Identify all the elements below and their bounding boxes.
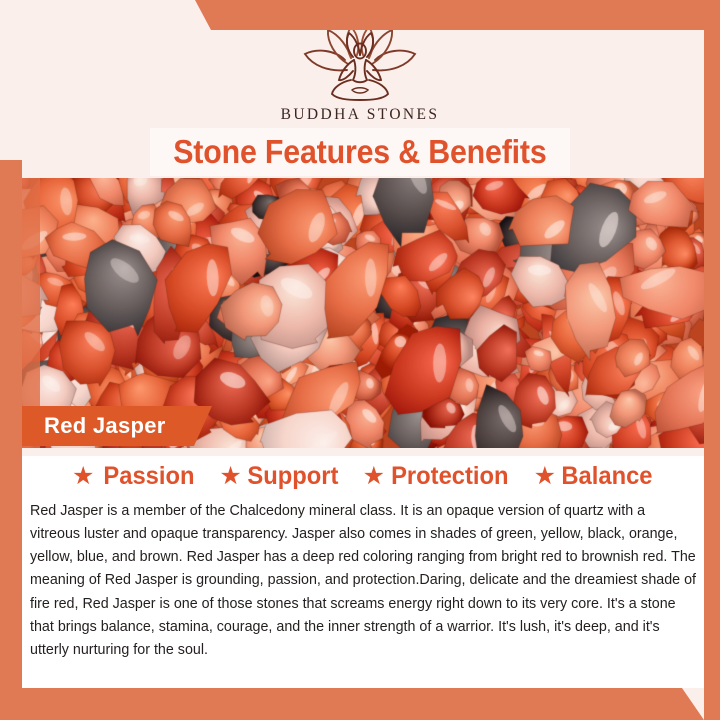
stone-name-banner: Red Jasper xyxy=(22,406,212,446)
benefit-item-support: ★ Support xyxy=(219,462,340,491)
meditating-buddha-lotus-icon xyxy=(285,24,435,104)
benefit-label: Balance xyxy=(561,462,652,491)
benefit-label: Support xyxy=(247,462,338,491)
brand-wordmark: BUDDHA STONES xyxy=(281,106,440,124)
brand-logo: BUDDHA STONES xyxy=(0,24,720,124)
frame-left-band xyxy=(0,160,22,688)
star-icon: ★ xyxy=(363,464,385,489)
star-icon: ★ xyxy=(534,464,556,489)
star-icon: ★ xyxy=(72,464,94,489)
stone-name-label: Red Jasper xyxy=(22,413,166,439)
benefits-row: ★ Passion ★ Support ★ Protection ★ Balan… xyxy=(22,462,705,491)
frame-bottom-band xyxy=(0,688,720,720)
panel-top-edge xyxy=(22,448,705,456)
description-panel: ★ Passion ★ Support ★ Protection ★ Balan… xyxy=(22,448,705,688)
page-title-panel: Stone Features & Benefits xyxy=(150,128,570,176)
benefit-item-balance: ★ Balance xyxy=(534,462,655,491)
benefit-label: Passion xyxy=(104,462,195,491)
frame-right-band xyxy=(704,0,720,720)
benefit-item-protection: ★ Protection xyxy=(363,462,512,491)
benefit-label: Protection xyxy=(391,462,508,491)
page-title: Stone Features & Benefits xyxy=(173,133,546,171)
star-icon: ★ xyxy=(219,464,241,489)
stone-description-text: Red Jasper is a member of the Chalcedony… xyxy=(30,500,697,662)
benefit-item-passion: ★ Passion xyxy=(72,462,197,491)
